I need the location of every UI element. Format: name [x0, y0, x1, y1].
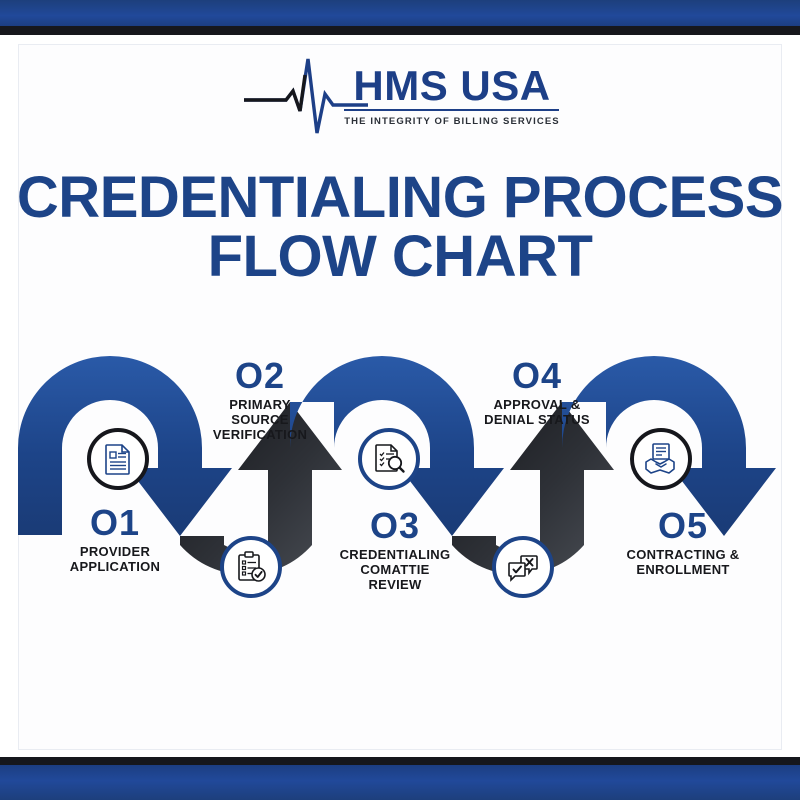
step-icon-5	[630, 428, 692, 490]
page-title-line-1: CREDENTIALING PROCESS	[0, 168, 800, 227]
top-dark-stripe	[0, 26, 800, 35]
top-blue-band	[0, 0, 800, 26]
infographic-poster: HMS USA THE INTEGRITY OF BILLING SERVICE…	[0, 0, 800, 800]
step-number-5: O5	[588, 508, 778, 544]
step-icon-2	[220, 536, 282, 598]
step-caption-3-line-1: CREDENTIALING	[305, 548, 485, 563]
step-number-4: O4	[442, 358, 632, 394]
step-label-2: O2 PRIMARY SOURCE VERIFICATION	[170, 358, 350, 443]
step-number-2: O2	[170, 358, 350, 394]
page-title-line-2: FLOW CHART	[0, 227, 800, 286]
step-caption-2: PRIMARY SOURCE VERIFICATION	[170, 398, 350, 443]
bottom-blue-band	[0, 765, 800, 800]
step-label-5: O5 CONTRACTING & ENROLLMENT	[588, 508, 778, 578]
step-caption-4: APPROVAL & DENIAL STATUS	[442, 398, 632, 428]
step-caption-4-line-1: APPROVAL &	[442, 398, 632, 413]
step-icon-4	[492, 536, 554, 598]
step-number-1: O1	[30, 505, 200, 541]
step-caption-2-line-1: PRIMARY	[170, 398, 350, 413]
step-caption-3: CREDENTIALING COMATTIE REVIEW	[305, 548, 485, 593]
step-caption-1-line-2: APPLICATION	[30, 560, 200, 575]
step-caption-5: CONTRACTING & ENROLLMENT	[588, 548, 778, 578]
step-caption-3-line-2: COMATTIE	[305, 563, 485, 578]
step-caption-2-line-2: SOURCE	[170, 413, 350, 428]
step-label-1: O1 PROVIDER APPLICATION	[30, 505, 200, 575]
logo-brand-text: HMS USA	[353, 65, 550, 107]
step-caption-3-line-3: REVIEW	[305, 578, 485, 593]
step-icon-1	[87, 428, 149, 490]
step-caption-5-line-1: CONTRACTING &	[588, 548, 778, 563]
step-label-4: O4 APPROVAL & DENIAL STATUS	[442, 358, 632, 428]
step-caption-1: PROVIDER APPLICATION	[30, 545, 200, 575]
step-caption-1-line-1: PROVIDER	[30, 545, 200, 560]
brand-logo: HMS USA THE INTEGRITY OF BILLING SERVICE…	[0, 52, 800, 140]
step-caption-4-line-2: DENIAL STATUS	[442, 413, 632, 428]
document-lines-icon	[101, 442, 135, 476]
logo-tagline: THE INTEGRITY OF BILLING SERVICES	[344, 116, 559, 127]
step-label-3: O3 CREDENTIALING COMATTIE REVIEW	[305, 508, 485, 593]
step-number-3: O3	[305, 508, 485, 544]
approval-denial-bubbles-icon	[506, 550, 540, 584]
process-flow-diagram: O1 PROVIDER APPLICATION O2 PRIMARY SOURC…	[0, 340, 800, 670]
clipboard-check-icon	[234, 550, 268, 584]
document-magnifier-icon	[372, 442, 406, 476]
handshake-document-icon	[644, 442, 678, 476]
step-icon-3	[358, 428, 420, 490]
logo-divider-rule	[344, 109, 559, 111]
step-caption-5-line-2: ENROLLMENT	[588, 563, 778, 578]
step-caption-2-line-3: VERIFICATION	[170, 428, 350, 443]
bottom-dark-stripe	[0, 757, 800, 765]
page-title: CREDENTIALING PROCESS FLOW CHART	[0, 168, 800, 286]
